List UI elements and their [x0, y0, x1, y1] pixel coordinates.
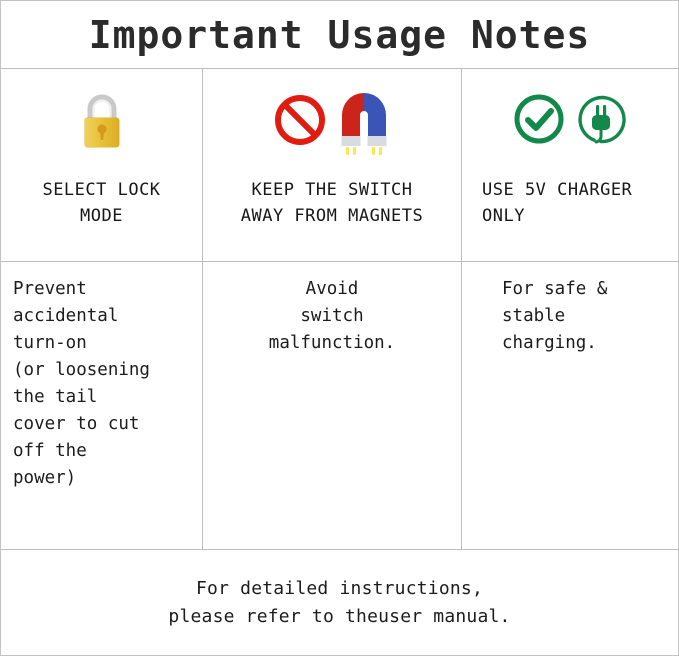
body-magnets: Avoid switch malfunction. — [203, 262, 462, 549]
icon-group-charger — [512, 91, 628, 163]
page-title: Important Usage Notes — [89, 13, 590, 57]
heading-lock-mode: SELECT LOCK MODE — [1, 177, 202, 229]
heading-magnets: KEEP THE SWITCH AWAY FROM MAGNETS — [203, 177, 461, 229]
magnet-icon — [336, 91, 392, 159]
icon-group-magnets — [272, 91, 392, 163]
icon-heading-row: SELECT LOCK MODE — [1, 69, 678, 262]
column-lock-mode: SELECT LOCK MODE — [1, 69, 203, 261]
prohibited-icon — [272, 91, 328, 151]
padlock-icon — [78, 91, 126, 155]
footer-row: For detailed instructions, please refer … — [1, 550, 678, 655]
body-row: Prevent accidental turn-on (or loosening… — [1, 262, 678, 550]
body-charger: For safe & stable charging. — [462, 262, 678, 549]
title-row: Important Usage Notes — [1, 1, 678, 69]
plug-circle-icon — [574, 91, 628, 149]
check-circle-icon — [512, 91, 566, 149]
column-magnets: KEEP THE SWITCH AWAY FROM MAGNETS — [203, 69, 462, 261]
heading-charger: USE 5V CHARGER ONLY — [462, 177, 678, 229]
footer-note: For detailed instructions, please refer … — [168, 575, 510, 631]
body-lock-mode: Prevent accidental turn-on (or loosening… — [1, 262, 203, 549]
usage-notes-card: Important Usage Notes — [0, 0, 679, 656]
icon-group-lock — [78, 91, 126, 163]
column-charger: USE 5V CHARGER ONLY — [462, 69, 678, 261]
